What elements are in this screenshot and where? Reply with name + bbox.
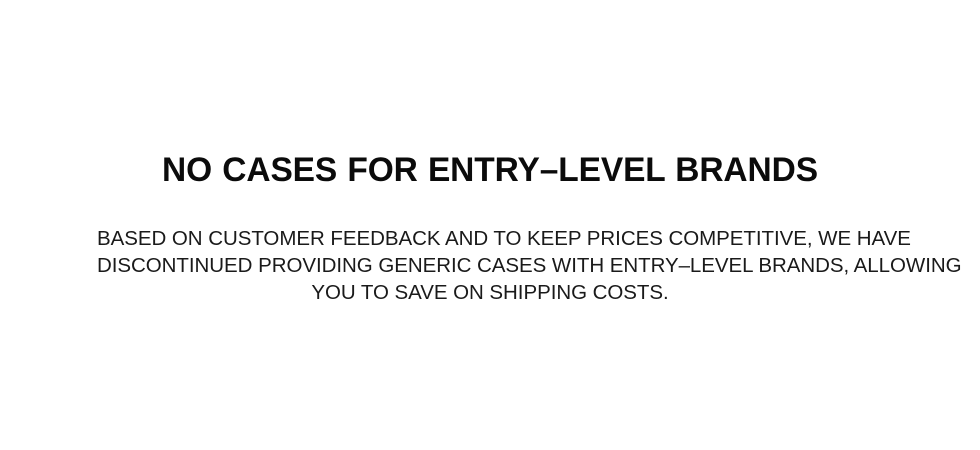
promo-banner: NO CASES FOR ENTRY–LEVEL BRANDS BASED ON… [0,0,980,450]
banner-description-line: DISCONTINUED PROVIDING GENERIC CASES WIT… [97,252,883,279]
banner-heading: NO CASES FOR ENTRY–LEVEL BRANDS [7,150,972,190]
banner-description-line: BASED ON CUSTOMER FEEDBACK AND TO KEEP P… [97,225,883,252]
banner-description: BASED ON CUSTOMER FEEDBACK AND TO KEEP P… [97,225,883,306]
banner-description-line: YOU TO SAVE ON SHIPPING COSTS. [97,279,883,306]
